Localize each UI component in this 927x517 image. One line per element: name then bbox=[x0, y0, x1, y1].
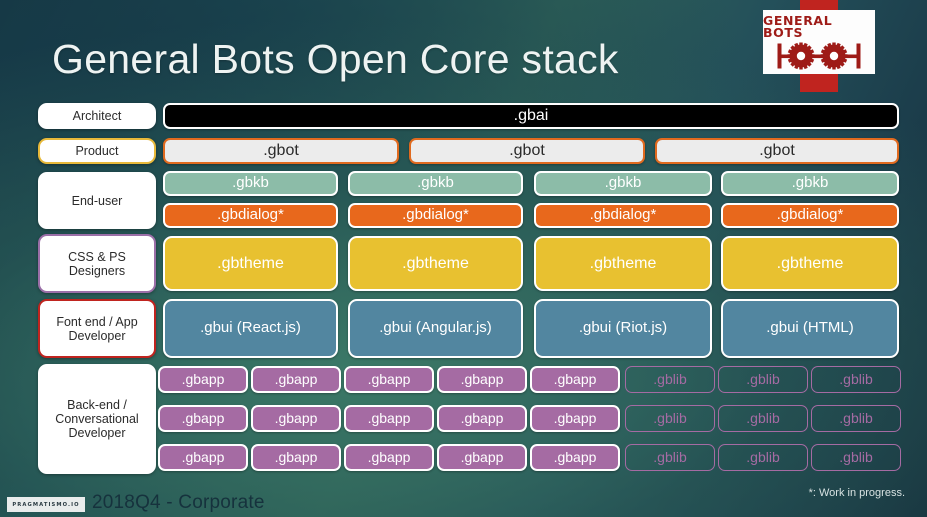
layer-label: .gblib bbox=[653, 411, 686, 427]
layer-label: .gbkb bbox=[417, 175, 454, 192]
layer-gbapp: .gbapp bbox=[251, 366, 341, 393]
layer-label: .gblib bbox=[839, 411, 872, 427]
layer-gbui-riot: .gbui (Riot.js) bbox=[534, 299, 712, 358]
layer-gbkb: .gbkb bbox=[163, 171, 338, 196]
role-label: Font end / App Developer bbox=[44, 315, 150, 343]
layer-gbapp: .gbapp bbox=[530, 444, 620, 471]
layer-gbapp: .gbapp bbox=[530, 366, 620, 393]
slide-canvas: GENERAL BOTS bbox=[0, 0, 927, 517]
layer-label: .gbtheme bbox=[402, 255, 469, 273]
role-card-back-end-conversational-developer: Back-end / Conversational Developer bbox=[38, 364, 156, 474]
layer-label: .gbai bbox=[514, 107, 549, 125]
layer-label: .gbapp bbox=[182, 411, 225, 427]
layer-gbdialog: .gbdialog* bbox=[348, 203, 523, 228]
layer-label: .gbdialog* bbox=[590, 207, 657, 224]
layer-label: .gblib bbox=[746, 411, 779, 427]
layer-label: .gbapp bbox=[461, 411, 504, 427]
role-label: Back-end / Conversational Developer bbox=[44, 398, 150, 440]
layer-label: .gbui (Angular.js) bbox=[379, 320, 492, 337]
layer-label: .gblib bbox=[653, 450, 686, 466]
layer-gbai: .gbai bbox=[163, 103, 899, 129]
page-title: General Bots Open Core stack bbox=[52, 36, 752, 83]
general-bots-logo: GENERAL BOTS bbox=[763, 0, 875, 92]
layer-label: .gbapp bbox=[275, 450, 318, 466]
layer-gbapp: .gbapp bbox=[251, 405, 341, 432]
layer-label: .gblib bbox=[746, 372, 779, 388]
role-label: Product bbox=[75, 144, 118, 158]
layer-gbtheme: .gbtheme bbox=[163, 236, 338, 291]
layer-gbapp: .gbapp bbox=[158, 405, 248, 432]
layer-label: .gbtheme bbox=[217, 255, 284, 273]
layer-label: .gbkb bbox=[605, 175, 642, 192]
layer-gbot: .gbot bbox=[409, 138, 645, 164]
layer-label: .gbapp bbox=[368, 411, 411, 427]
layer-label: .gbdialog* bbox=[402, 207, 469, 224]
role-label: End-user bbox=[72, 194, 123, 208]
layer-gbui-html: .gbui (HTML) bbox=[721, 299, 899, 358]
layer-gblib: .gblib bbox=[811, 444, 901, 471]
role-label: Architect bbox=[73, 109, 122, 123]
layer-gbot: .gbot bbox=[163, 138, 399, 164]
layer-label: .gbapp bbox=[368, 372, 411, 388]
layer-gblib: .gblib bbox=[718, 405, 808, 432]
work-in-progress-note: *: Work in progress. bbox=[809, 487, 905, 499]
layer-label: .gbapp bbox=[461, 372, 504, 388]
footer-caption: 2018Q4 - Corporate bbox=[92, 492, 265, 514]
layer-label: .gbapp bbox=[554, 411, 597, 427]
layer-label: .gbkb bbox=[232, 175, 269, 192]
layer-gbapp: .gbapp bbox=[158, 444, 248, 471]
layer-gbapp: .gbapp bbox=[251, 444, 341, 471]
role-label: CSS & PS Designers bbox=[44, 250, 150, 278]
role-card-front-end-app-developer: Font end / App Developer bbox=[38, 299, 156, 358]
layer-gblib: .gblib bbox=[811, 366, 901, 393]
layer-gbtheme: .gbtheme bbox=[721, 236, 899, 291]
layer-label: .gbui (React.js) bbox=[200, 320, 301, 337]
layer-label: .gbapp bbox=[554, 450, 597, 466]
layer-gblib: .gblib bbox=[811, 405, 901, 432]
logo-wordmark: GENERAL BOTS bbox=[763, 15, 875, 40]
layer-gbapp: .gbapp bbox=[344, 366, 434, 393]
layer-label: .gbdialog* bbox=[777, 207, 844, 224]
layer-gbui-react: .gbui (React.js) bbox=[163, 299, 338, 358]
layer-gbdialog: .gbdialog* bbox=[721, 203, 899, 228]
layer-gbkb: .gbkb bbox=[534, 171, 712, 196]
layer-label: .gbapp bbox=[275, 372, 318, 388]
layer-gbapp: .gbapp bbox=[344, 405, 434, 432]
layer-gblib: .gblib bbox=[625, 366, 715, 393]
layer-gbapp: .gbapp bbox=[437, 444, 527, 471]
layer-gblib: .gblib bbox=[625, 444, 715, 471]
layer-label: .gbui (Riot.js) bbox=[579, 320, 667, 337]
layer-label: .gbtheme bbox=[777, 255, 844, 273]
layer-label: .gbot bbox=[509, 142, 545, 160]
layer-gbui-angular: .gbui (Angular.js) bbox=[348, 299, 523, 358]
logo-card: GENERAL BOTS bbox=[763, 10, 875, 74]
layer-label: .gbapp bbox=[461, 450, 504, 466]
layer-label: .gbot bbox=[759, 142, 795, 160]
layer-label: .gbdialog* bbox=[217, 207, 284, 224]
layer-gbot: .gbot bbox=[655, 138, 899, 164]
layer-label: .gbkb bbox=[792, 175, 829, 192]
role-card-end-user: End-user bbox=[38, 172, 156, 229]
layer-gbtheme: .gbtheme bbox=[534, 236, 712, 291]
role-card-css-ps-designers: CSS & PS Designers bbox=[38, 234, 156, 293]
layer-gbkb: .gbkb bbox=[721, 171, 899, 196]
layer-label: .gblib bbox=[839, 450, 872, 466]
gears-icon bbox=[773, 42, 865, 70]
layer-gbapp: .gbapp bbox=[530, 405, 620, 432]
layer-gbdialog: .gbdialog* bbox=[163, 203, 338, 228]
pragmatismo-logo: PRAGMATISMO.IO bbox=[7, 497, 85, 512]
layer-label: .gbapp bbox=[275, 411, 318, 427]
layer-label: .gbapp bbox=[554, 372, 597, 388]
layer-label: .gbui (HTML) bbox=[766, 320, 854, 337]
layer-label: .gblib bbox=[746, 450, 779, 466]
layer-label: .gbapp bbox=[182, 450, 225, 466]
layer-label: .gbapp bbox=[368, 450, 411, 466]
layer-gblib: .gblib bbox=[625, 405, 715, 432]
role-card-architect: Architect bbox=[38, 103, 156, 129]
layer-label: .gbot bbox=[263, 142, 299, 160]
layer-gbtheme: .gbtheme bbox=[348, 236, 523, 291]
layer-gbkb: .gbkb bbox=[348, 171, 523, 196]
layer-label: .gblib bbox=[839, 372, 872, 388]
layer-label: .gblib bbox=[653, 372, 686, 388]
layer-gbapp: .gbapp bbox=[158, 366, 248, 393]
layer-gbapp: .gbapp bbox=[437, 366, 527, 393]
role-card-product: Product bbox=[38, 138, 156, 164]
layer-gbapp: .gbapp bbox=[437, 405, 527, 432]
layer-gbdialog: .gbdialog* bbox=[534, 203, 712, 228]
layer-label: .gbtheme bbox=[590, 255, 657, 273]
layer-gblib: .gblib bbox=[718, 366, 808, 393]
layer-gblib: .gblib bbox=[718, 444, 808, 471]
layer-label: .gbapp bbox=[182, 372, 225, 388]
layer-gbapp: .gbapp bbox=[344, 444, 434, 471]
pragmatismo-wordmark: PRAGMATISMO.IO bbox=[12, 502, 79, 508]
